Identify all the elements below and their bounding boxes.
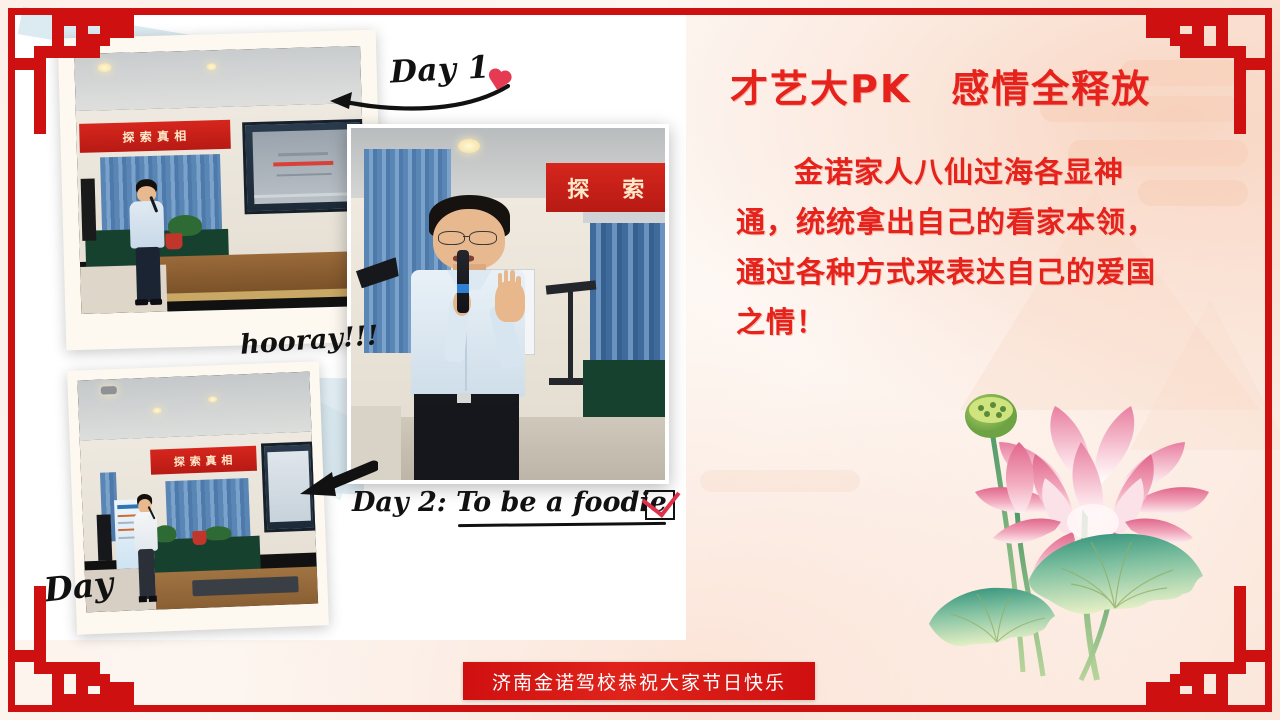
checkmark-icon: [645, 490, 675, 520]
frame-border-right: [1265, 8, 1272, 712]
corner-ornament-bottom-left: [14, 586, 134, 706]
body-paragraph: 金诺家人八仙过海各显神通，统统拿出自己的看家本领，通过各种方式来表达自己的爱国之…: [736, 148, 1166, 348]
photo-card-center[interactable]: 探 索: [347, 124, 669, 484]
heart-icon: [484, 68, 514, 97]
banner-text: 探 索: [567, 172, 650, 204]
annotation-day2: Day 2: To be a foodie: [352, 487, 667, 518]
wall-banner-center: 探 索: [546, 163, 665, 212]
microphone: [457, 250, 469, 313]
cloud-decor-5: [700, 470, 860, 492]
photo-bottom-left: 探 索 真 相: [77, 372, 318, 613]
frame-border-bottom: [8, 705, 1272, 712]
wall-banner-bottom-left: 探 索 真 相: [150, 446, 258, 476]
slide-canvas: 探 索 真 相: [0, 0, 1280, 720]
frame-border-top: [8, 8, 1272, 15]
person-center: [408, 195, 559, 480]
annotation-day1: Day 1: [389, 49, 491, 90]
corner-ornament-top-right: [1146, 14, 1266, 134]
photo-center: 探 索: [351, 128, 665, 480]
bottom-banner: 济南金诺驾校恭祝大家节日快乐: [463, 662, 815, 700]
banner-text: 探 索 真 相: [174, 451, 234, 469]
corner-ornament-top-left: [14, 14, 134, 134]
corner-ornament-bottom-right: [1146, 586, 1266, 706]
